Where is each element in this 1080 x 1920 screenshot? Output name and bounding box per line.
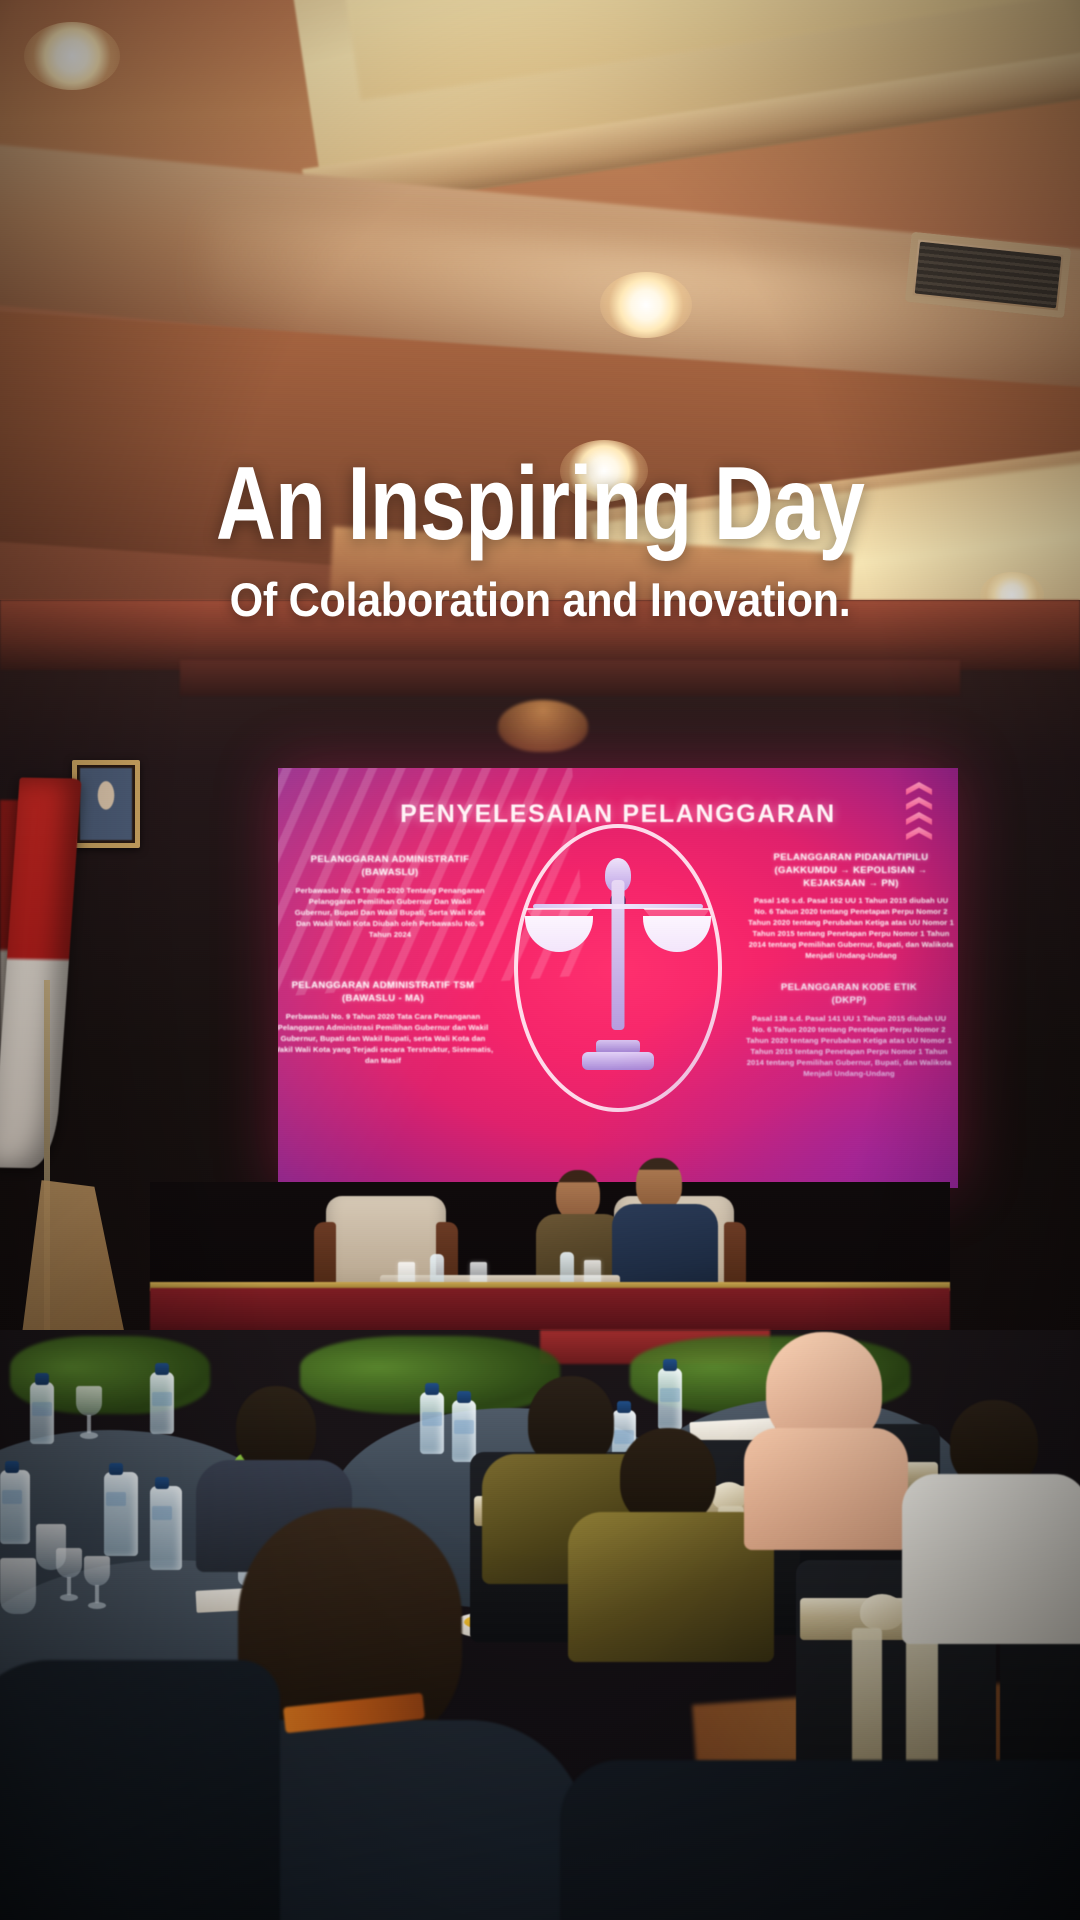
slide-block-administratif: PELANGGARAN ADMINISTRATIF (BAWASLU) Perb…: [290, 854, 490, 940]
water-bottle: [420, 1392, 444, 1454]
framed-portrait: [72, 760, 140, 848]
chair-sash-tail: [852, 1628, 882, 1778]
slide-block-body: Pasal 145 s.d. Pasal 162 UU 1 Tahun 2015…: [748, 895, 954, 961]
goblet-glass: [76, 1386, 102, 1442]
wall-pelmet: [180, 660, 960, 696]
conference-photo: PENYELESAIAN PELANGGARAN PELANGGARAN ADM…: [0, 0, 1080, 1920]
slide-block-body: Pasal 138 s.d. Pasal 141 UU 1 Tahun 2015…: [746, 1013, 952, 1079]
slide-block-subheading: (BAWASLU): [290, 867, 490, 880]
goblet-stem: [67, 1577, 71, 1595]
goblet-foot: [80, 1432, 98, 1439]
water-bottle: [30, 1382, 54, 1444]
audience-shoulders: [902, 1474, 1080, 1644]
ceiling-downlight: [600, 272, 692, 338]
scales-base-upper: [596, 1040, 640, 1054]
foreground-audience-member: [0, 1660, 260, 1920]
chevron-up-icon: [906, 782, 932, 795]
goblet-bowl: [76, 1386, 102, 1416]
vent-slats: [915, 242, 1062, 309]
slide-block-pidana: PELANGGARAN PIDANA/TIPILU (GAKKUMDU → KE…: [748, 852, 954, 961]
water-bottle: [658, 1368, 682, 1430]
goblet-bowl: [56, 1548, 82, 1578]
speaker-head: [636, 1158, 682, 1210]
foreground-chair: [560, 1760, 1080, 1920]
ceiling-downlight: [560, 440, 648, 502]
goblet-glass: [56, 1548, 82, 1604]
goblet-foot: [60, 1594, 78, 1601]
ceiling: [0, 0, 1080, 640]
foreground-shoulders: [0, 1660, 280, 1920]
slide-block-heading: PELANGGARAN KODE ETIK: [746, 982, 952, 995]
speaker-head: [556, 1170, 600, 1220]
scales-pan-left: [525, 916, 593, 952]
goblet-stem: [87, 1415, 91, 1433]
scales-pan-right: [643, 916, 711, 952]
scales-of-justice-icon: [523, 846, 713, 1076]
goblet-stem: [95, 1585, 99, 1603]
slide-block-subheading: (BAWASLU - MA): [278, 993, 494, 1006]
slide-block-heading: PELANGGARAN ADMINISTRATIF TSM: [278, 980, 494, 993]
water-bottle: [0, 1470, 30, 1544]
slide-block-subheading: (GAKKUMDU → KEPOLISIAN → KEJAKSAAN → PN): [748, 865, 954, 891]
water-bottle: [150, 1372, 174, 1434]
audience-member: [568, 1428, 768, 1658]
ceiling-downlight: [24, 22, 120, 90]
chair-sash-knot: [860, 1594, 904, 1630]
scales-post: [612, 880, 625, 1030]
scales-base: [582, 1052, 654, 1070]
slide-block-heading: PELANGGARAN PIDANA/TIPILU: [748, 852, 954, 865]
water-glass: [0, 1558, 36, 1614]
water-bottle: [452, 1400, 476, 1462]
audience-member-hijab: [744, 1332, 904, 1542]
led-presentation-screen: PENYELESAIAN PELANGGARAN PELANGGARAN ADM…: [278, 768, 958, 1188]
goblet-foot: [88, 1602, 106, 1609]
hijab-shoulders: [744, 1428, 908, 1550]
slide-block-body: Perbawaslu No. 9 Tahun 2020 Tata Cara Pe…: [278, 1011, 494, 1066]
slide-block-heading: PELANGGARAN ADMINISTRATIF: [290, 854, 490, 867]
slide-block-subheading: (DKPP): [746, 995, 952, 1008]
slide-block-body: Perbawaslu No. 8 Tahun 2020 Tentang Pena…: [290, 885, 490, 940]
ceiling-medallion: [498, 700, 588, 752]
goblet-glass: [84, 1556, 110, 1612]
audience-member: [902, 1400, 1080, 1640]
goblet-bowl: [84, 1556, 110, 1586]
slide-block-kode-etik: PELANGGARAN KODE ETIK (DKPP) Pasal 138 s…: [746, 982, 952, 1079]
slide-block-administratif-tsm: PELANGGARAN ADMINISTRATIF TSM (BAWASLU -…: [278, 980, 494, 1066]
